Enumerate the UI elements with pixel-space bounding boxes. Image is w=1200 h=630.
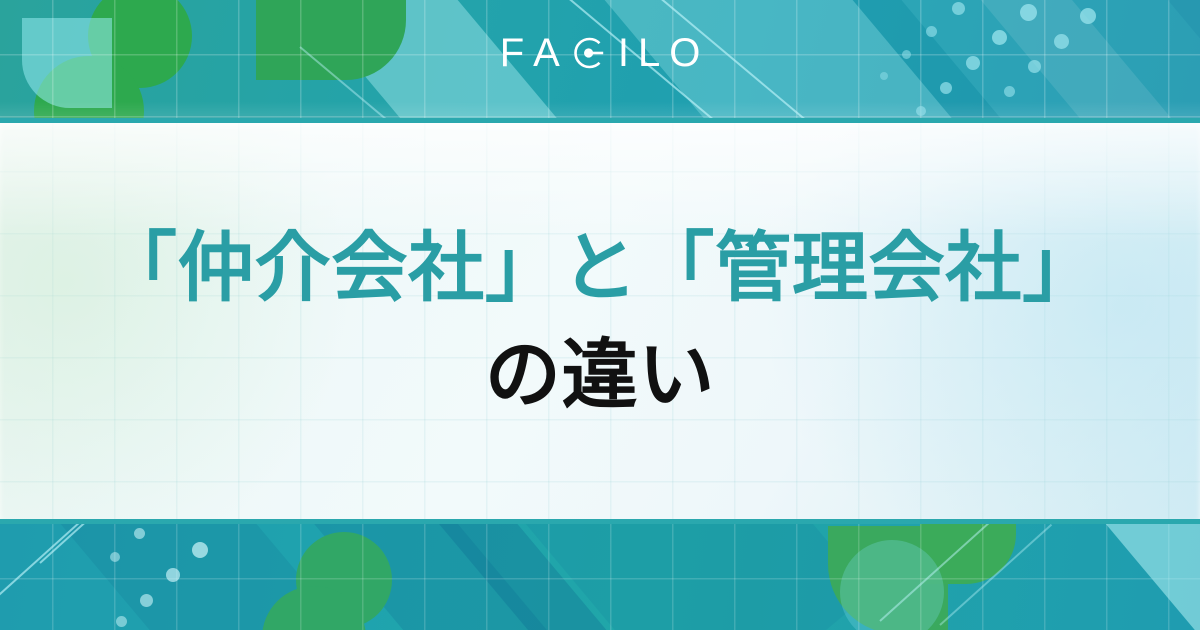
logo-letter-a: A	[533, 33, 560, 73]
logo-letter-o: O	[669, 33, 700, 73]
bottom-banner	[0, 524, 1200, 630]
brand-logo: F A I L O	[0, 33, 1200, 73]
title-term-brokerage: 「仲介会社」	[101, 223, 562, 312]
title-conjunction: と	[562, 223, 639, 312]
title-line-2: の違い	[485, 326, 715, 423]
logo-letter-f: F	[500, 33, 524, 73]
logo-letter-l: L	[638, 33, 660, 73]
title-line-1: 「仲介会社」と「管理会社」	[101, 219, 1099, 316]
facilo-c-lens-icon	[569, 33, 609, 73]
title-suffix: の違い	[485, 330, 715, 419]
logo-letter-i: I	[618, 33, 629, 73]
og-image-canvas: F A I L O 「仲介会社」と「管理会社」 の違い	[0, 0, 1200, 630]
title-block: 「仲介会社」と「管理会社」 の違い	[0, 118, 1200, 524]
title-term-management: 「管理会社」	[638, 223, 1099, 312]
